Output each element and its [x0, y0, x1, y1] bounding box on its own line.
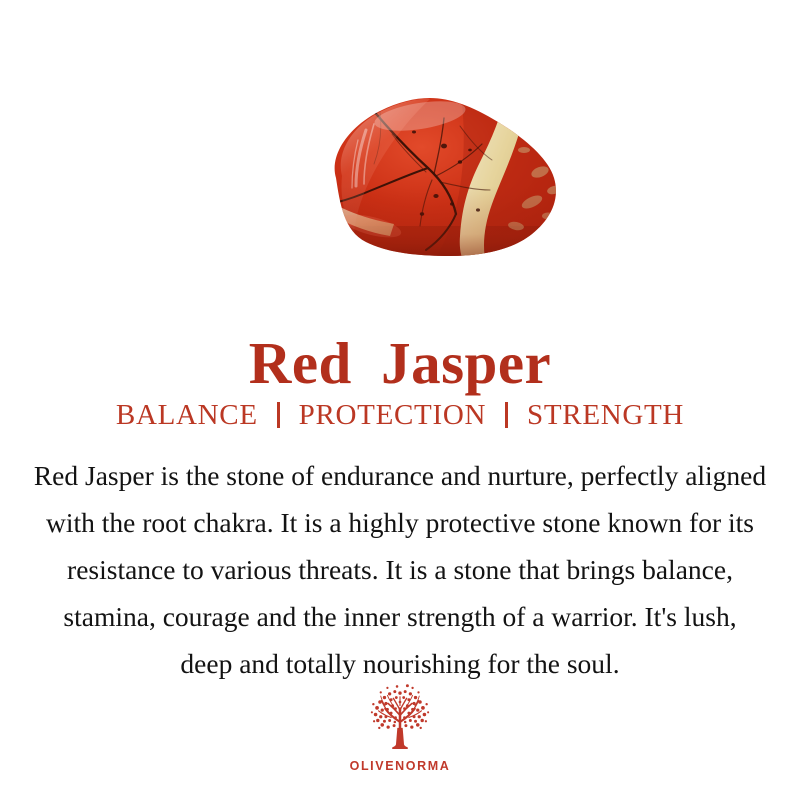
- keyword-balance: BALANCE: [116, 399, 258, 431]
- stone-keywords: BALANCE PROTECTION STRENGTH: [0, 398, 800, 432]
- tree-of-life-icon: [362, 682, 438, 756]
- description-line: Red Jasper is the stone of endurance and…: [12, 452, 788, 499]
- keyword-strength: STRENGTH: [527, 399, 684, 431]
- page-title: Red Jasper: [0, 332, 800, 394]
- stone-info-card: Red Jasper BALANCE PROTECTION STRENGTH R…: [0, 0, 800, 800]
- keyword-protection: PROTECTION: [299, 399, 486, 431]
- description-line: stamina, courage and the inner strength …: [12, 593, 788, 640]
- brand-wordmark: OLIVENORMA: [0, 759, 800, 773]
- description-line: with the root chakra. It is a highly pro…: [12, 499, 788, 546]
- description-line: deep and totally nourishing for the soul…: [12, 640, 788, 687]
- red-jasper-stone-icon: [310, 86, 576, 266]
- description-line: resistance to various threats. It is a s…: [12, 546, 788, 593]
- keyword-separator-icon: [505, 402, 508, 428]
- red-jasper-stone-image: [310, 86, 576, 266]
- brand-logo: OLIVENORMA: [0, 682, 800, 773]
- keyword-separator-icon: [277, 402, 280, 428]
- stone-description: Red Jasper is the stone of endurance and…: [12, 452, 788, 687]
